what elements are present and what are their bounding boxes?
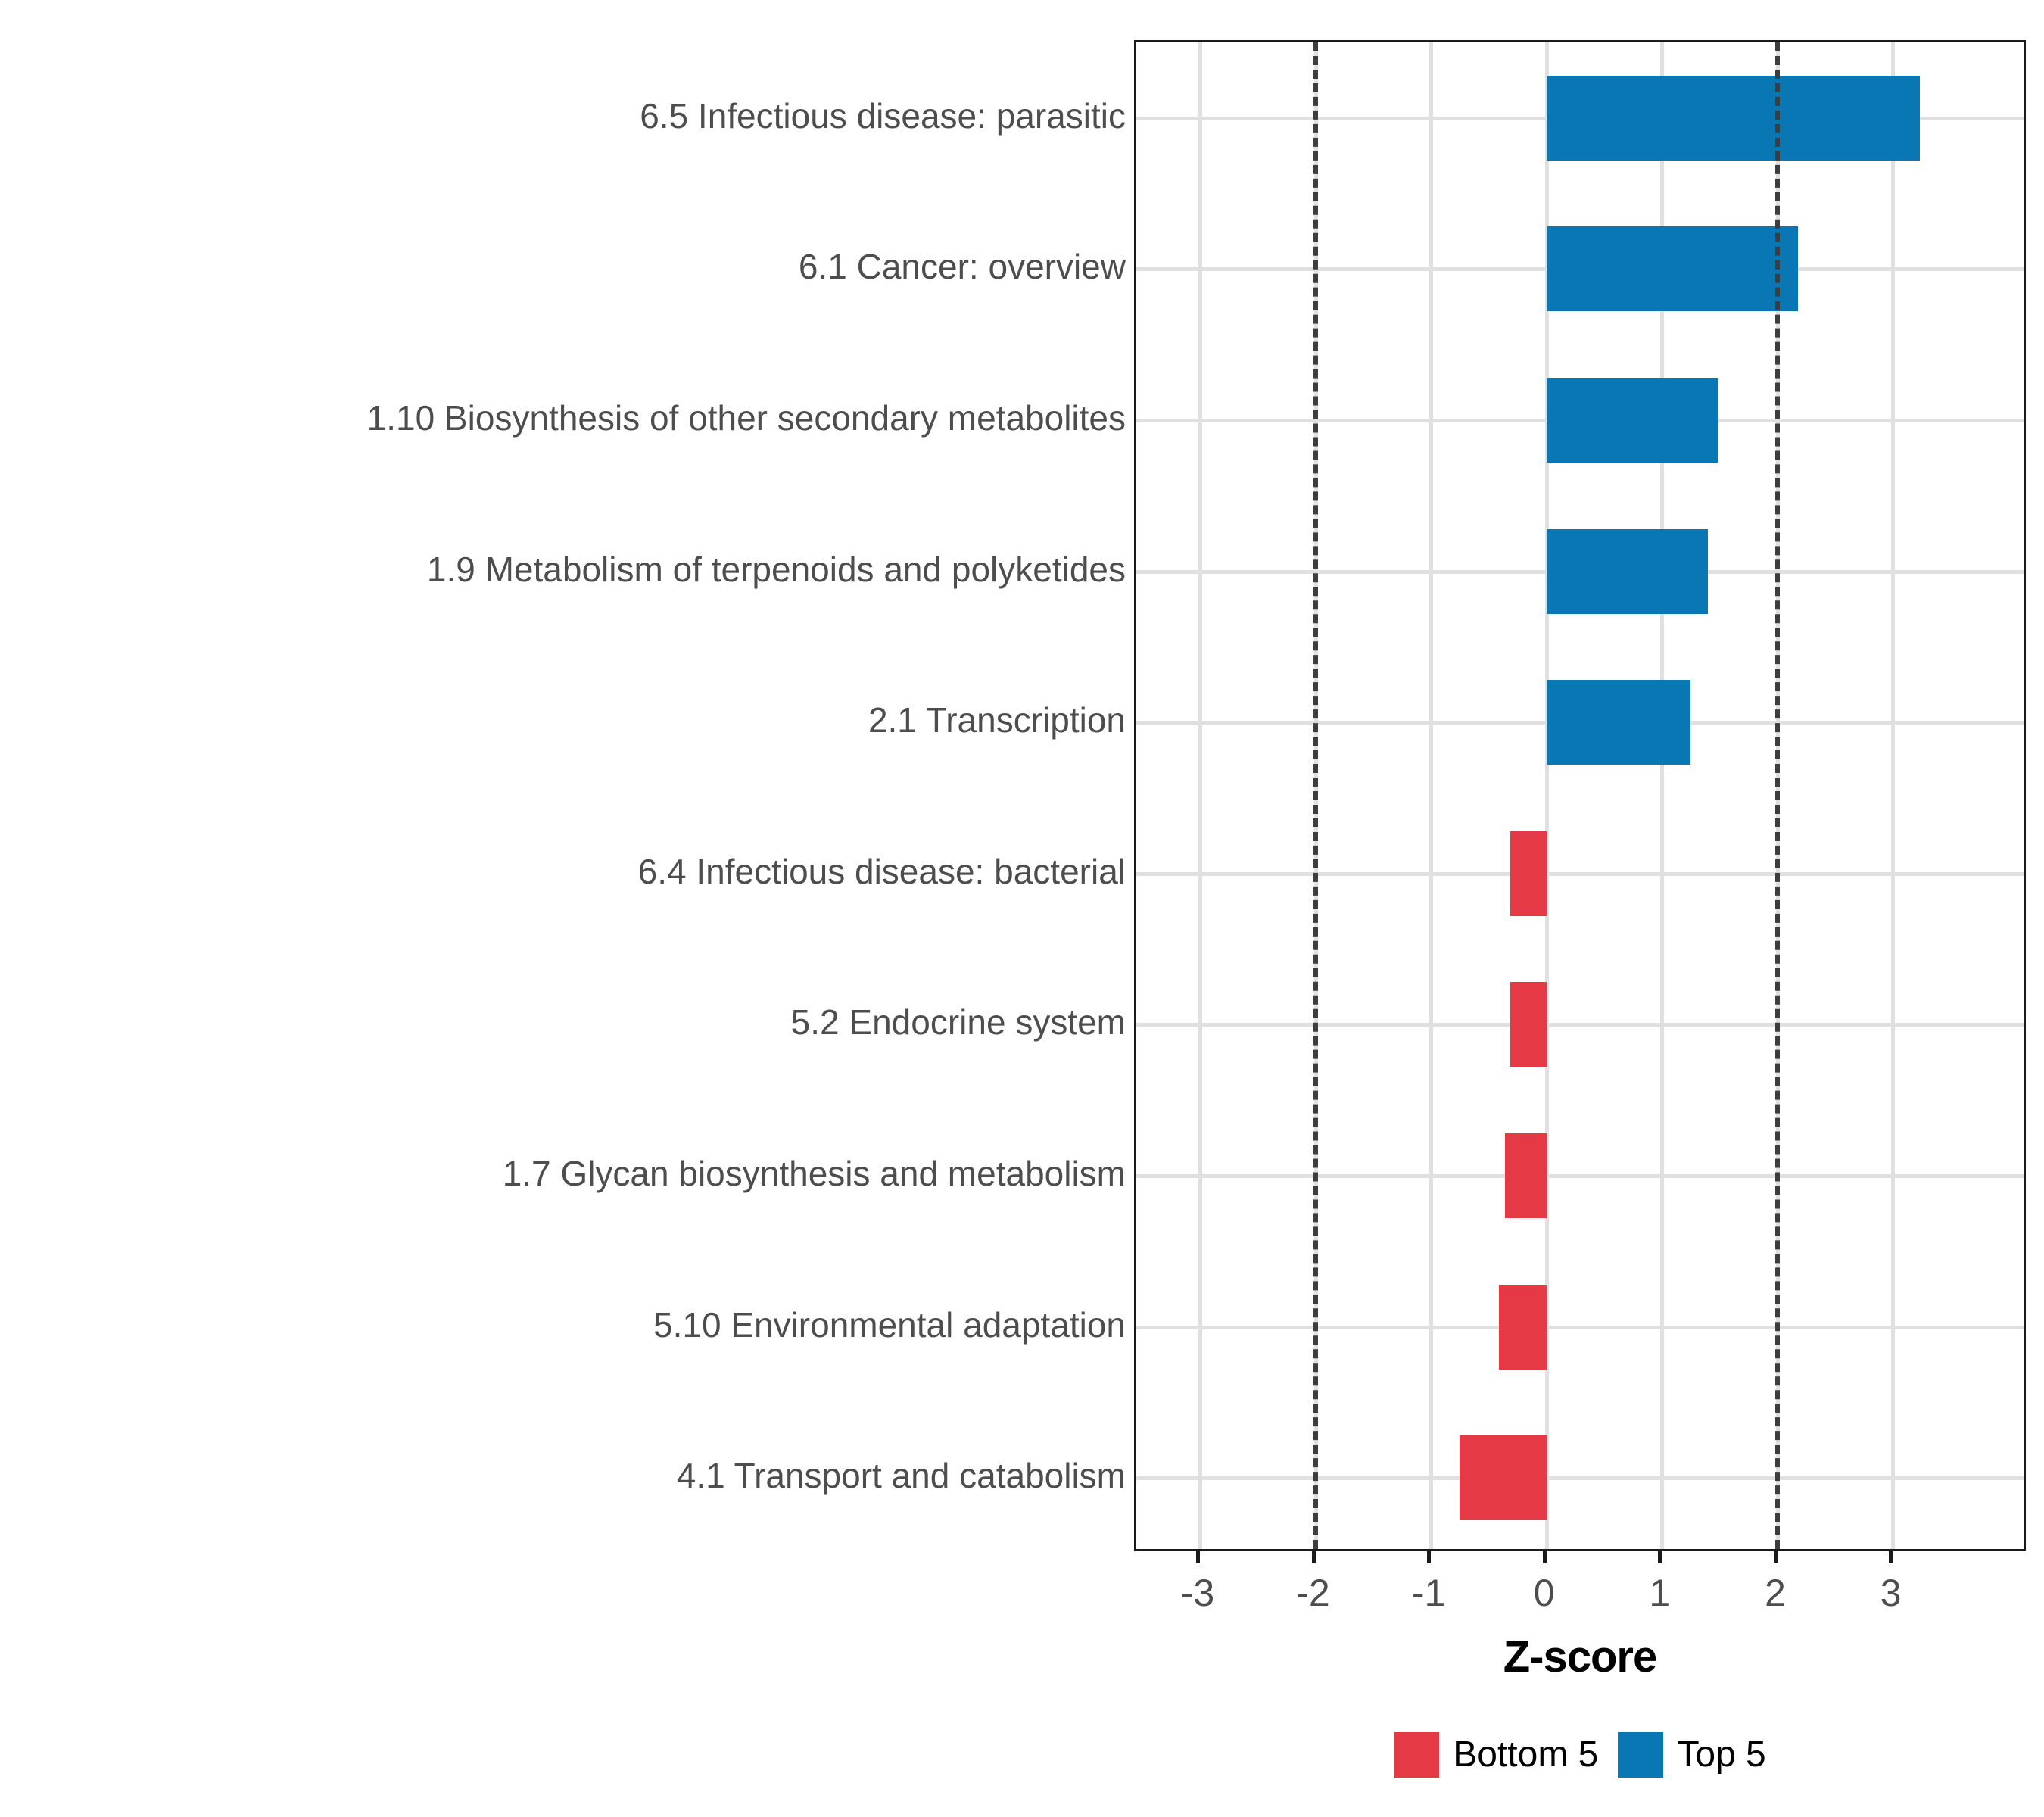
bar [1547, 378, 1718, 463]
y-axis-tick-label: 2.1 Transcription [868, 703, 1126, 737]
x-axis-tick-mark [1543, 1551, 1547, 1563]
x-axis-tick-mark [1658, 1551, 1662, 1563]
horizontal-gridline [1136, 1476, 2024, 1480]
y-axis-tick-label: 1.10 Biosynthesis of other secondary met… [367, 400, 1126, 435]
bar [1547, 226, 1799, 311]
y-axis-tick-label: 1.7 Glycan biosynthesis and metabolism [503, 1156, 1126, 1191]
reference-line [1775, 42, 1780, 1549]
bar [1505, 1133, 1547, 1218]
y-axis-tick-label: 5.2 Endocrine system [791, 1005, 1126, 1039]
legend-item[interactable]: Bottom 5 [1394, 1732, 1598, 1778]
y-axis-tick-label: 6.1 Cancer: overview [799, 249, 1126, 284]
bar [1547, 680, 1691, 765]
x-axis-tick-label: 2 [1765, 1574, 1786, 1612]
vertical-gridline [1429, 42, 1433, 1549]
horizontal-gridline [1136, 1174, 2024, 1178]
chart-legend: Bottom 5Top 5 [1134, 1732, 2026, 1778]
y-axis-category-labels: 6.5 Infectious disease: parasitic6.1 Can… [0, 0, 1126, 1817]
chart-figure: 6.5 Infectious disease: parasitic6.1 Can… [0, 0, 2044, 1817]
bar [1510, 982, 1546, 1067]
x-axis-tick-label: 1 [1649, 1574, 1670, 1612]
x-axis-tick-mark [1427, 1551, 1431, 1563]
y-axis-tick-label: 6.4 Infectious disease: bacterial [638, 854, 1126, 889]
legend-label: Top 5 [1677, 1737, 1765, 1773]
x-axis-tick-label: -1 [1412, 1574, 1445, 1612]
y-axis-tick-label: 6.5 Infectious disease: parasitic [640, 98, 1126, 133]
bar [1547, 76, 1920, 161]
vertical-gridline [1198, 42, 1202, 1549]
x-axis-tick-mark [1312, 1551, 1316, 1563]
legend-label: Bottom 5 [1453, 1737, 1598, 1773]
bar [1460, 1435, 1546, 1520]
vertical-gridline [1891, 42, 1895, 1549]
legend-color-swatch [1618, 1732, 1663, 1778]
bar [1510, 831, 1546, 916]
legend-color-swatch [1394, 1732, 1439, 1778]
y-axis-tick-label: 4.1 Transport and catabolism [677, 1458, 1126, 1493]
bar [1499, 1285, 1547, 1370]
x-axis-tick-label: 0 [1534, 1574, 1555, 1612]
x-axis-tick-label: -3 [1181, 1574, 1214, 1612]
x-axis-tick-mark [1196, 1551, 1200, 1563]
horizontal-gridline [1136, 872, 2024, 876]
y-axis-tick-label: 5.10 Environmental adaptation [653, 1307, 1126, 1342]
legend-item[interactable]: Top 5 [1618, 1732, 1765, 1778]
bar [1547, 529, 1709, 614]
x-axis-tick-mark [1889, 1551, 1893, 1563]
y-axis-tick-label: 1.9 Metabolism of terpenoids and polyket… [427, 552, 1126, 587]
x-axis-tick-mark [1774, 1551, 1778, 1563]
reference-line [1313, 42, 1318, 1549]
plot-panel [1134, 40, 2026, 1551]
horizontal-gridline [1136, 1023, 2024, 1027]
x-axis-tick-label: -2 [1296, 1574, 1329, 1612]
x-axis-title: Z-score [1134, 1632, 2026, 1682]
horizontal-gridline [1136, 1326, 2024, 1329]
x-axis-tick-label: 3 [1880, 1574, 1902, 1612]
